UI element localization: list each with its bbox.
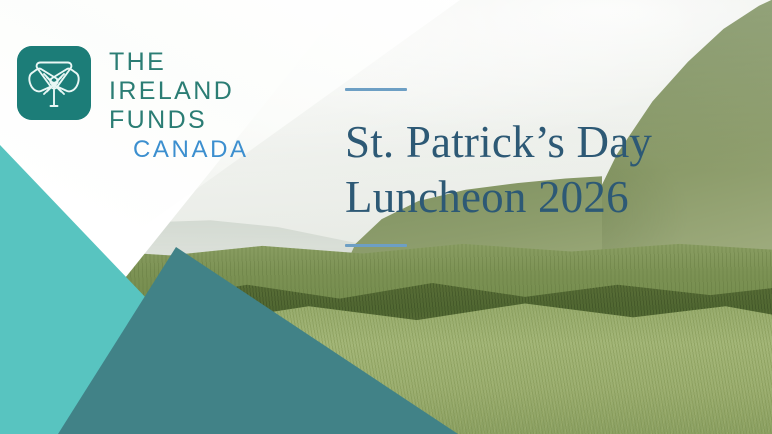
headline-rule-bottom xyxy=(345,244,407,247)
logo-line-funds: FUNDS xyxy=(109,106,249,135)
event-banner: THE IRELAND FUNDS CANADA St. Patrick’s D… xyxy=(0,0,772,434)
shamrock-knot-icon xyxy=(17,46,91,120)
ireland-funds-canada-logo[interactable]: THE IRELAND FUNDS CANADA xyxy=(17,46,249,164)
logo-wordmark: THE IRELAND FUNDS CANADA xyxy=(109,46,249,164)
logo-line-ireland: IRELAND xyxy=(109,77,249,106)
logo-line-the: THE xyxy=(109,48,249,77)
headline-rule-top xyxy=(345,88,407,91)
logo-line-canada: CANADA xyxy=(109,135,249,164)
headline-block: St. Patrick’s Day Luncheon 2026 xyxy=(345,88,745,247)
page-title: St. Patrick’s Day Luncheon 2026 xyxy=(345,115,745,225)
